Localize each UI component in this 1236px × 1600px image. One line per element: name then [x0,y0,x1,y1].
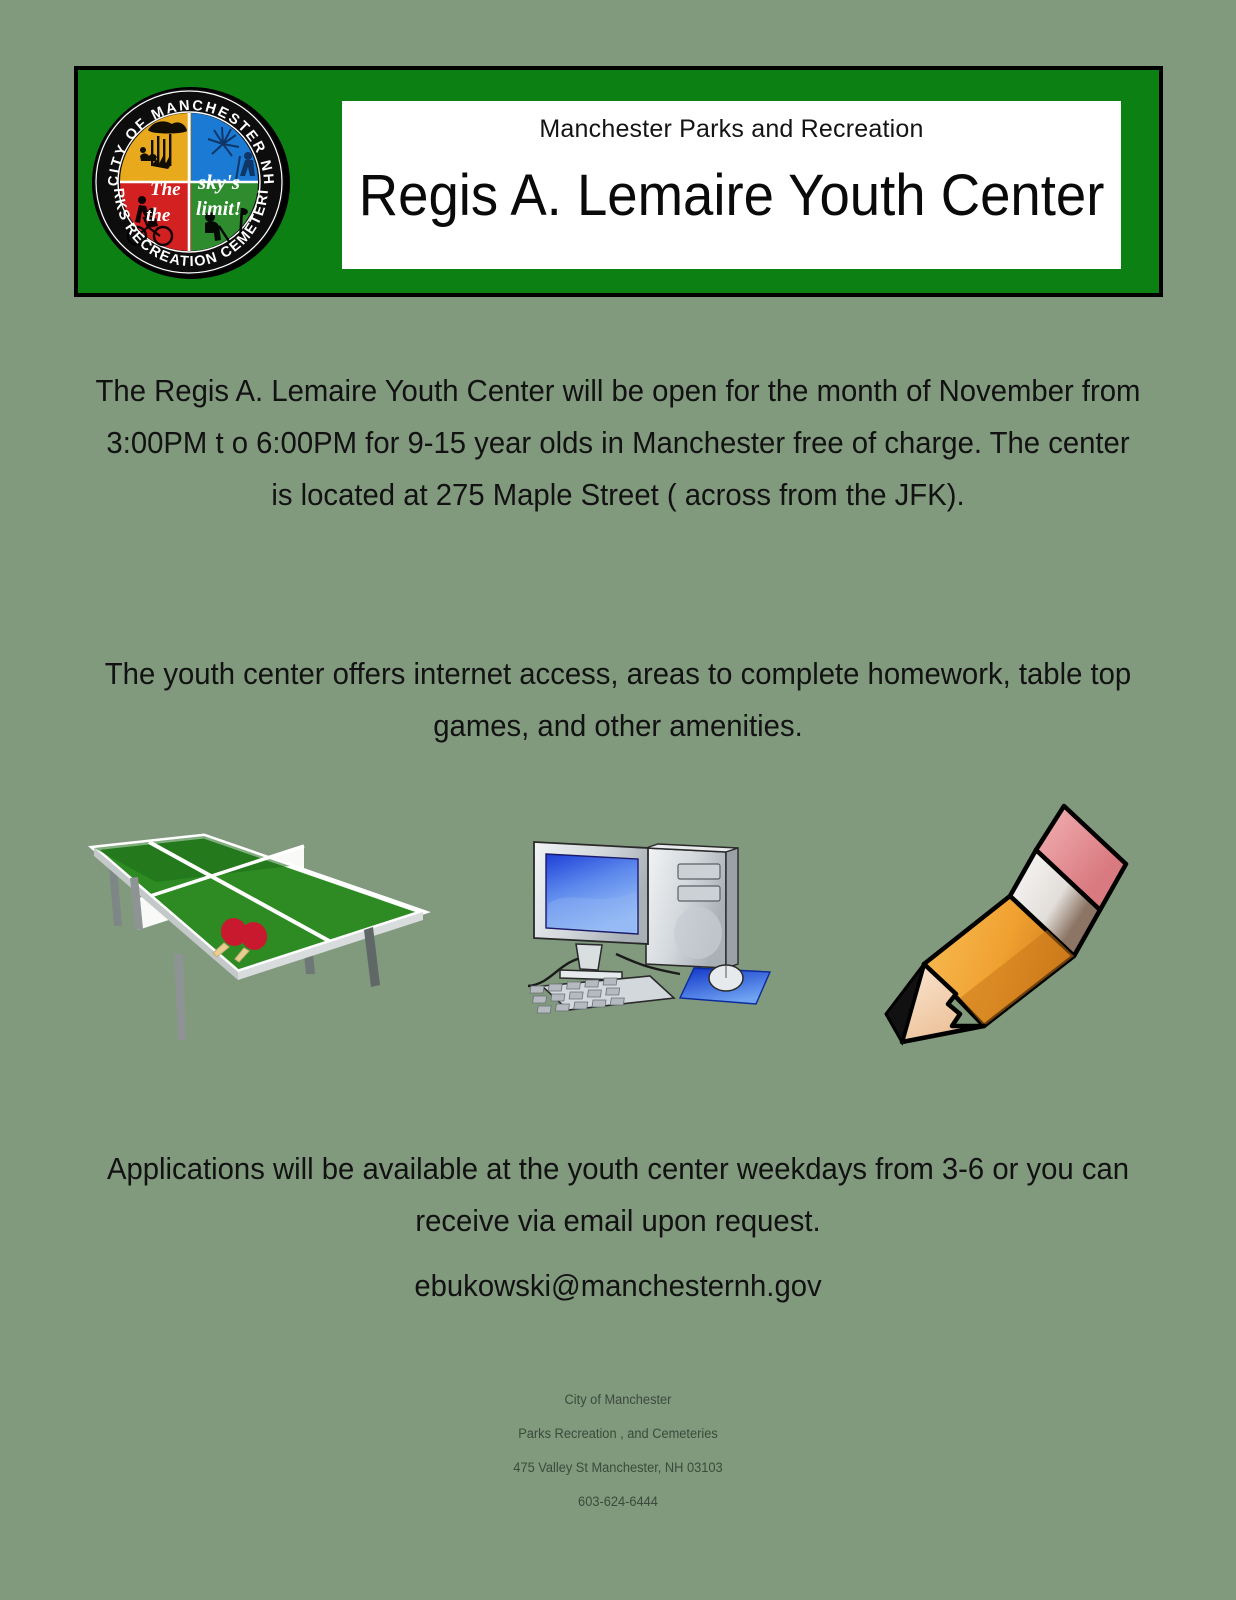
footer-line-address: 475 Valley St Manchester, NH 03103 [31,1451,1205,1485]
footer-line-phone: 603-624-6444 [31,1485,1205,1519]
ping-pong-table-icon [78,804,438,1044]
paragraph-applications: Applications will be available at the yo… [84,1143,1152,1247]
desktop-computer-icon [498,808,808,1018]
paragraph-intro: The Regis A. Lemaire Youth Center will b… [94,365,1142,521]
footer-line-dept: Parks Recreation , and Cemeteries [31,1417,1205,1451]
pencil-icon [862,796,1142,1046]
page-title: Regis A. Lemaire Youth Center [359,166,1105,227]
header-subtitle: Manchester Parks and Recreation [539,115,923,144]
footer-line-org: City of Manchester [31,1383,1205,1417]
logo-wrap: The sky's the limit! CITY OF MANCHESTER … [90,84,292,280]
header-banner: The sky's the limit! CITY OF MANCHESTER … [74,66,1163,297]
seal-quadrant-label-the1: The [150,179,181,200]
illustration-row [0,790,1236,1060]
city-seal-icon: The sky's the limit! CITY OF MANCHESTER … [90,84,292,280]
footer: City of Manchester Parks Recreation , an… [0,1383,1236,1519]
seal-quadrant-label-the2: the [146,205,171,226]
seal-quadrant-label-skys: sky's [197,170,240,194]
title-box: Manchester Parks and Recreation Regis A.… [342,101,1121,269]
seal-quadrant-label-limit: limit! [196,198,242,220]
contact-email[interactable]: ebukowski@manchesternh.gov [84,1260,1152,1312]
paragraph-offers: The youth center offers internet access,… [94,648,1142,752]
